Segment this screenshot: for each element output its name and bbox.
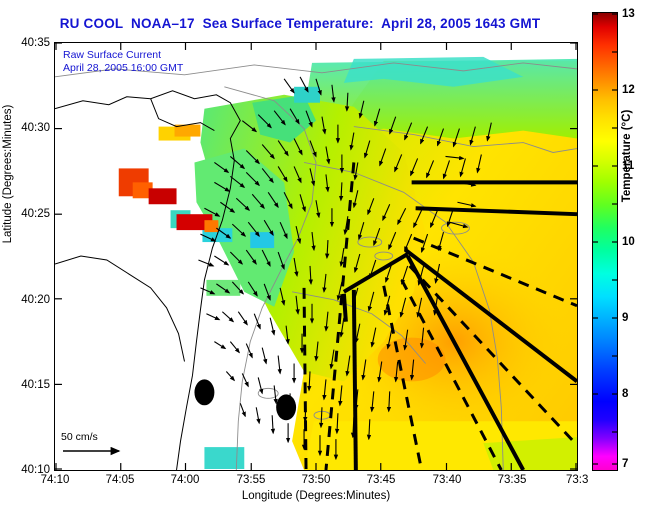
x-tick-7: 73:35 bbox=[482, 474, 542, 486]
figure-root: RU COOL NOAA–17 Sea Surface Temperature:… bbox=[0, 0, 651, 515]
x-tick-2: 74:00 bbox=[155, 474, 215, 486]
x-tick-4: 73:50 bbox=[286, 474, 346, 486]
colorbar-tick-4: 9 bbox=[622, 312, 628, 324]
y-axis-label: Latitude (Degrees:Minutes) bbox=[2, 84, 14, 264]
x-tick-8: 73:3 bbox=[566, 474, 596, 486]
x-axis-label: Longitude (Degrees:Minutes) bbox=[54, 490, 578, 502]
y-tick-4: 40:15 bbox=[4, 379, 50, 391]
x-tick-5: 73:45 bbox=[351, 474, 411, 486]
colorbar bbox=[592, 12, 618, 471]
y-tick-3: 40:20 bbox=[4, 294, 50, 306]
colorbar-label: Temperature (°C) bbox=[621, 71, 633, 241]
axis-tickmarks bbox=[55, 43, 577, 470]
figure-title: RU COOL NOAA–17 Sea Surface Temperature:… bbox=[0, 16, 600, 31]
x-tick-6: 73:40 bbox=[417, 474, 477, 486]
map-plot-area[interactable]: Raw Surface Current April 28, 2005 16:00… bbox=[54, 42, 578, 471]
x-tick-1: 74:05 bbox=[90, 474, 150, 486]
x-tick-3: 73:55 bbox=[221, 474, 281, 486]
x-tick-0: 74:10 bbox=[25, 474, 85, 486]
colorbar-tick-5: 8 bbox=[622, 388, 628, 400]
y-tick-0: 40:35 bbox=[4, 37, 50, 49]
x-axis-tick-labels: 74:10 74:05 74:00 73:55 73:50 73:45 73:4… bbox=[54, 474, 578, 490]
colorbar-tick-6: 7 bbox=[622, 458, 628, 470]
colorbar-tick-0: 13 bbox=[622, 8, 635, 20]
